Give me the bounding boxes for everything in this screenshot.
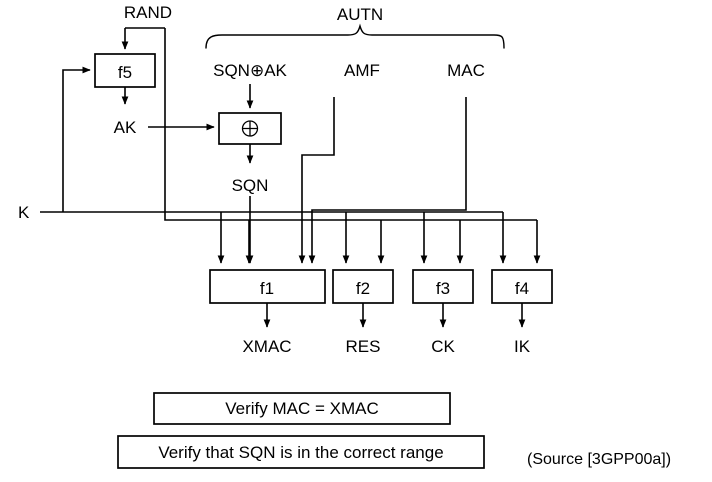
output-label-res: RES — [346, 337, 381, 356]
output-label-ik: IK — [514, 337, 531, 356]
block-label-f5: f5 — [118, 63, 132, 82]
output-label-ck: CK — [431, 337, 455, 356]
block-label-f2: f2 — [356, 279, 370, 298]
autn-group-brace — [206, 26, 504, 48]
authentication-function-diagram: AUTN RAND SQN⊕AK AMF MAC f5 AK SQN — [0, 0, 712, 482]
input-label-k: K — [18, 203, 30, 222]
check-label-verify-mac: Verify MAC = XMAC — [225, 399, 379, 418]
wire-k-to-f5 — [63, 70, 90, 212]
diagram-canvas: AUTN RAND SQN⊕AK AMF MAC f5 AK SQN — [0, 0, 712, 482]
autn-field-label-amf: AMF — [344, 61, 380, 80]
input-label-rand: RAND — [124, 3, 172, 22]
wire-amf-to-f1 — [302, 97, 334, 263]
output-label-xmac: XMAC — [242, 337, 291, 356]
source-note: (Source [3GPP00a]) — [527, 451, 671, 468]
autn-group-label: AUTN — [337, 5, 383, 24]
wire-mac-to-f1 — [312, 97, 466, 263]
intermediate-label-ak: AK — [114, 118, 137, 137]
autn-field-label-mac: MAC — [447, 61, 485, 80]
block-label-f4: f4 — [515, 279, 529, 298]
autn-field-label-sqn-xor-ak: SQN⊕AK — [213, 61, 287, 80]
block-label-f3: f3 — [436, 279, 450, 298]
check-label-verify-sqn: Verify that SQN is in the correct range — [158, 443, 443, 462]
block-label-f1: f1 — [260, 279, 274, 298]
intermediate-label-sqn: SQN — [232, 176, 269, 195]
